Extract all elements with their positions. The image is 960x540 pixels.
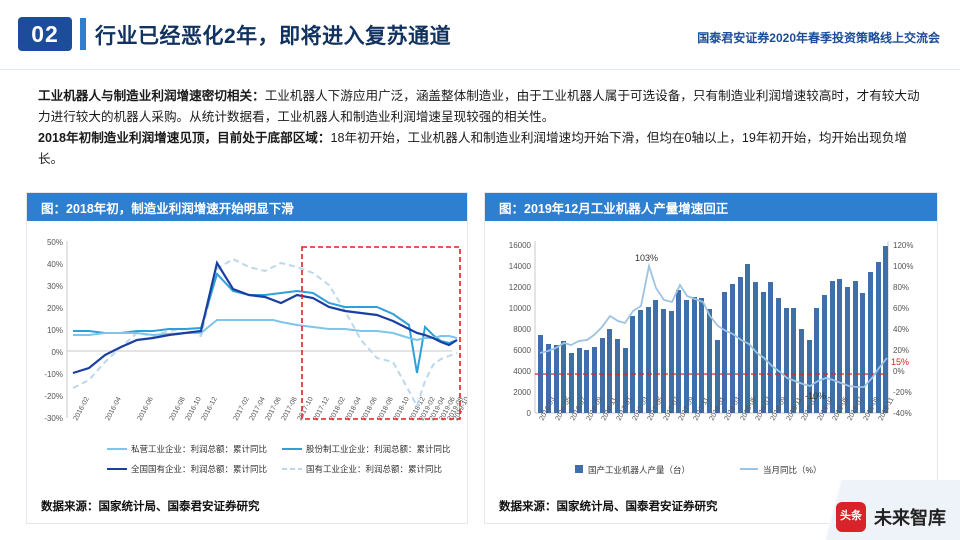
header-subtitle: 国泰君安证券2020年春季投资策略线上交流会 xyxy=(697,29,940,46)
svg-text:2000: 2000 xyxy=(513,388,531,397)
svg-text:4000: 4000 xyxy=(513,367,531,376)
right-chart-source: 数据来源：国家统计局、国泰君安证券研究 xyxy=(499,498,718,514)
svg-text:0%: 0% xyxy=(893,367,905,376)
header-divider xyxy=(0,69,960,70)
left-chart-panel: 图：2018年初，制造业利润增速开始明显下滑 50% 40% 30% 20% 1… xyxy=(26,192,468,524)
right-chart-title: 图：2019年12月工业机器人产量增速回正 xyxy=(485,193,937,221)
watermark: 头条 未来智库 xyxy=(836,502,946,532)
svg-text:2016-04: 2016-04 xyxy=(105,396,123,422)
svg-text:20%: 20% xyxy=(47,304,63,313)
paragraph-1-bold: 工业机器人与制造业利润增速密切相关： xyxy=(38,89,265,103)
svg-text:国产工业机器人产量（台）: 国产工业机器人产量（台） xyxy=(588,465,690,475)
svg-text:2016-12: 2016-12 xyxy=(201,396,219,422)
left-chart-title: 图：2018年初，制造业利润增速开始明显下滑 xyxy=(27,193,467,221)
svg-text:2016-06: 2016-06 xyxy=(137,396,155,422)
svg-text:12000: 12000 xyxy=(509,283,532,292)
svg-text:40%: 40% xyxy=(47,260,63,269)
svg-text:-20%: -20% xyxy=(893,388,912,397)
right-chart-panel: 图：2019年12月工业机器人产量增速回正 16000 14000 12000 … xyxy=(484,192,938,524)
body-paragraphs: 工业机器人与制造业利润增速密切相关：工业机器人下游应用广泛，涵盖整体制造业，由于… xyxy=(38,86,923,170)
svg-text:-30%: -30% xyxy=(44,414,63,423)
svg-text:0%: 0% xyxy=(51,348,63,357)
annotation-15: 15% xyxy=(891,357,909,367)
svg-text:私营工业企业：利润总额：累计同比: 私营工业企业：利润总额：累计同比 xyxy=(131,444,267,454)
toutiao-logo: 头条 xyxy=(836,502,866,532)
section-number-badge: 02 xyxy=(18,17,72,51)
svg-text:80%: 80% xyxy=(893,283,909,292)
svg-text:-10%: -10% xyxy=(44,370,63,379)
svg-text:16000: 16000 xyxy=(509,241,532,250)
left-chart-source: 数据来源：国家统计局、国泰君安证券研究 xyxy=(41,498,260,514)
svg-text:10%: 10% xyxy=(47,326,63,335)
svg-text:100%: 100% xyxy=(893,262,913,271)
svg-text:0: 0 xyxy=(527,409,532,418)
right-chart-legend: 国产工业机器人产量（台） 当月同比（%） xyxy=(575,465,822,475)
svg-text:50%: 50% xyxy=(47,238,63,247)
svg-text:60%: 60% xyxy=(893,304,909,313)
svg-text:2016-02: 2016-02 xyxy=(73,396,91,422)
left-chart-legend: 私营工业企业：利润总额：累计同比 股份制工业企业：利润总额：累计同比 全国国有企… xyxy=(107,444,451,474)
paragraph-2-bold: 2018年初制造业利润增速见顶，目前处于底部区域： xyxy=(38,131,331,145)
svg-text:30%: 30% xyxy=(47,282,63,291)
watermark-text: 未来智库 xyxy=(874,504,946,530)
bars-robot-output xyxy=(538,246,888,413)
svg-text:14000: 14000 xyxy=(509,262,532,271)
svg-text:-20%: -20% xyxy=(44,392,63,401)
svg-text:8000: 8000 xyxy=(513,325,531,334)
slide-header: 02 行业已经恶化2年，即将进入复苏通道 国泰君安证券2020年春季投资策略线上… xyxy=(0,0,960,70)
svg-text:120%: 120% xyxy=(893,241,913,250)
annotation-103: 103% xyxy=(635,253,658,263)
svg-text:全国国有企业：利润总额：累计同比: 全国国有企业：利润总额：累计同比 xyxy=(131,464,267,474)
svg-text:国有工业企业：利润总额：累计同比: 国有工业企业：利润总额：累计同比 xyxy=(306,464,442,474)
svg-text:40%: 40% xyxy=(893,325,909,334)
highlight-box xyxy=(302,247,460,419)
svg-text:6000: 6000 xyxy=(513,346,531,355)
right-bar-line-chart: 16000 14000 12000 10000 8000 6000 4000 2… xyxy=(485,221,937,486)
page-title: 行业已经恶化2年，即将进入复苏通道 xyxy=(95,20,451,50)
svg-text:10000: 10000 xyxy=(509,304,532,313)
svg-text:当月同比（%）: 当月同比（%） xyxy=(763,465,822,475)
svg-text:20%: 20% xyxy=(893,346,909,355)
svg-text:股份制工业企业：利润总额：累计同比: 股份制工业企业：利润总额：累计同比 xyxy=(306,444,451,454)
left-line-chart: 50% 40% 30% 20% 10% 0% -10% -20% -30% 20… xyxy=(27,221,467,486)
svg-text:-40%: -40% xyxy=(893,409,912,418)
header-accent-bar xyxy=(80,18,86,50)
